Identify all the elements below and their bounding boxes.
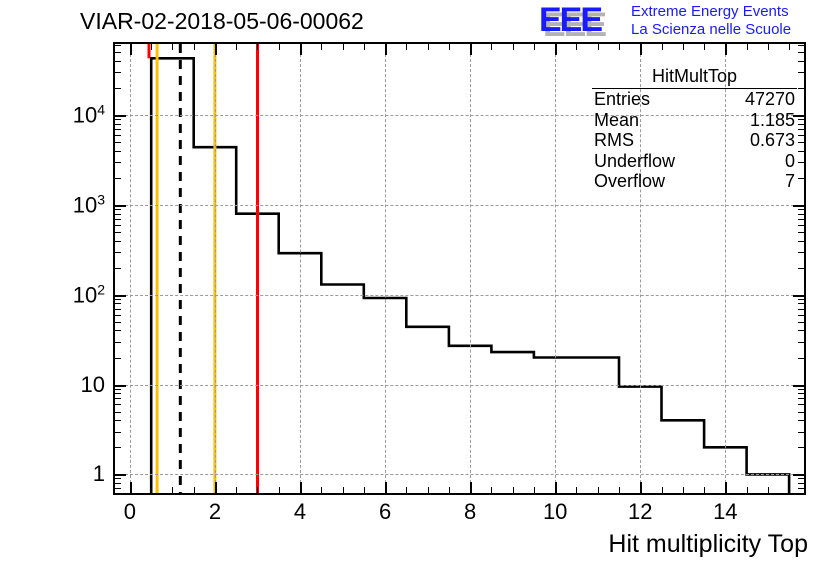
y-tick-right-minor — [798, 61, 804, 62]
y-tick-right-minor — [798, 330, 804, 331]
x-tick-minor — [343, 487, 344, 493]
x-tick-top-minor — [747, 44, 748, 50]
y-tick-minor — [115, 225, 121, 226]
y-tick-right-minor — [798, 358, 804, 359]
stats-row: Mean1.185 — [592, 110, 797, 131]
x-tick-minor — [768, 487, 769, 493]
stats-row: Underflow0 — [592, 151, 797, 172]
y-tick-minor — [115, 393, 121, 394]
y-tick-minor — [115, 315, 121, 316]
y-tick-minor — [115, 330, 121, 331]
y-tick-minor — [115, 178, 121, 179]
x-tick-top-major — [130, 44, 132, 55]
y-tick-major — [115, 205, 126, 207]
x-tick-top-minor — [789, 44, 790, 50]
x-tick-top-minor — [279, 44, 280, 50]
x-tick-minor — [428, 487, 429, 493]
y-tick-right-minor — [798, 241, 804, 242]
y-tick-minor — [115, 119, 121, 120]
x-tick-top-minor — [576, 44, 577, 50]
y-tick-minor — [115, 488, 121, 489]
y-tick-label: 10 — [81, 372, 105, 398]
y-tick-right-minor — [798, 151, 804, 152]
x-tick-minor — [683, 487, 684, 493]
y-tick-right-minor — [798, 135, 804, 136]
x-tick-minor — [513, 487, 514, 493]
y-tick-minor — [115, 358, 121, 359]
y-tick-minor — [115, 142, 121, 143]
x-tick-top-minor — [428, 44, 429, 50]
y-tick-minor — [115, 268, 121, 269]
grid-line-vertical — [470, 44, 471, 493]
y-tick-minor — [115, 129, 121, 130]
y-tick-right-minor — [798, 322, 804, 323]
plot-canvas: VIAR-02-2018-05-06-00062 EEE EEE Extreme… — [0, 0, 836, 572]
y-tick-minor — [115, 232, 121, 233]
y-tick-major — [115, 295, 126, 297]
x-tick-top-major — [215, 44, 217, 55]
stats-row: Overflow7 — [592, 171, 797, 192]
y-tick-major — [115, 385, 126, 387]
y-tick-right-minor — [798, 214, 804, 215]
x-tick-minor — [619, 487, 620, 493]
x-tick-minor — [172, 487, 173, 493]
y-tick-minor — [115, 61, 121, 62]
y-tick-right-minor — [798, 72, 804, 73]
stats-row: RMS0.673 — [592, 130, 797, 151]
y-tick-right-minor — [798, 52, 804, 53]
x-tick-minor — [364, 487, 365, 493]
x-tick-label: 8 — [464, 499, 476, 525]
y-tick-minor — [115, 432, 121, 433]
y-tick-right-minor — [798, 483, 804, 484]
y-tick-major — [115, 115, 126, 117]
x-tick-major — [640, 482, 642, 493]
x-axis-title: Hit multiplicity Top — [608, 530, 808, 559]
x-tick-minor — [491, 487, 492, 493]
y-tick-right-minor — [798, 420, 804, 421]
page-title: VIAR-02-2018-05-06-00062 — [80, 8, 364, 35]
eee-logo: EEE EEE Extreme Energy Events La Scienza… — [539, 2, 834, 40]
x-tick-top-minor — [236, 44, 237, 50]
x-tick-top-major — [555, 44, 557, 55]
y-tick-minor — [115, 478, 121, 479]
y-tick-minor — [115, 303, 121, 304]
x-tick-top-major — [640, 44, 642, 55]
y-tick-right-minor — [798, 178, 804, 179]
x-tick-major — [300, 482, 302, 493]
x-tick-minor — [704, 487, 705, 493]
x-tick-top-minor — [662, 44, 663, 50]
y-tick-minor — [115, 420, 121, 421]
x-tick-minor — [534, 487, 535, 493]
x-tick-minor — [662, 487, 663, 493]
y-tick-right-minor — [798, 393, 804, 394]
x-tick-major — [555, 482, 557, 493]
x-tick-label: 10 — [543, 499, 567, 525]
x-tick-top-minor — [683, 44, 684, 50]
x-tick-minor — [321, 487, 322, 493]
y-tick-minor — [115, 309, 121, 310]
x-tick-minor — [279, 487, 280, 493]
stats-row-value: 0 — [785, 151, 795, 172]
y-tick-minor — [115, 483, 121, 484]
y-tick-label: 102 — [73, 281, 105, 308]
y-tick-right-major — [793, 474, 804, 476]
y-tick-right-minor — [798, 232, 804, 233]
eee-logo-letters: EEE — [539, 3, 601, 37]
x-tick-top-minor — [343, 44, 344, 50]
grid-line-horizontal — [115, 385, 804, 386]
y-tick-minor — [115, 252, 121, 253]
x-tick-top-major — [725, 44, 727, 55]
x-tick-top-minor — [172, 44, 173, 50]
grid-line-vertical — [300, 44, 301, 493]
stats-rows: Entries47270Mean1.185RMS0.673Underflow0O… — [592, 89, 797, 192]
x-tick-top-major — [385, 44, 387, 55]
x-tick-top-minor — [321, 44, 322, 50]
stats-box: HitMultTop Entries47270Mean1.185RMS0.673… — [592, 66, 797, 192]
stats-row: Entries47270 — [592, 89, 797, 110]
y-tick-right-minor — [798, 124, 804, 125]
x-tick-minor — [789, 487, 790, 493]
y-tick-right-minor — [798, 162, 804, 163]
x-tick-major — [385, 482, 387, 493]
x-tick-top-major — [470, 44, 472, 55]
y-tick-minor — [115, 162, 121, 163]
x-tick-minor — [151, 487, 152, 493]
y-tick-right-minor — [798, 142, 804, 143]
x-tick-minor — [747, 487, 748, 493]
y-tick-right-minor — [798, 129, 804, 130]
y-tick-right-minor — [798, 342, 804, 343]
x-tick-minor — [257, 487, 258, 493]
y-tick-right-minor — [798, 303, 804, 304]
y-tick-minor — [115, 322, 121, 323]
y-tick-right-minor — [798, 488, 804, 489]
y-tick-right-major — [793, 385, 804, 387]
x-tick-top-minor — [491, 44, 492, 50]
y-tick-minor — [115, 45, 121, 46]
x-tick-top-minor — [704, 44, 705, 50]
y-tick-right-minor — [798, 398, 804, 399]
x-tick-minor — [236, 487, 237, 493]
x-tick-minor — [194, 487, 195, 493]
x-tick-major — [470, 482, 472, 493]
grid-line-vertical — [215, 44, 216, 493]
y-tick-label: 103 — [73, 191, 105, 218]
y-tick-minor — [115, 342, 121, 343]
y-tick-right-minor — [798, 45, 804, 46]
stats-title: HitMultTop — [592, 66, 797, 89]
x-tick-top-minor — [151, 44, 152, 50]
y-tick-minor — [115, 88, 121, 89]
y-tick-minor — [115, 52, 121, 53]
stats-row-key: Mean — [594, 110, 639, 131]
y-tick-right-minor — [798, 309, 804, 310]
eee-logo-line1: Extreme Energy Events — [631, 3, 789, 20]
y-tick-right-minor — [798, 209, 804, 210]
x-tick-label: 0 — [124, 499, 136, 525]
y-tick-right-minor — [798, 225, 804, 226]
y-tick-right-minor — [798, 389, 804, 390]
y-tick-minor — [115, 241, 121, 242]
y-tick-minor — [115, 72, 121, 73]
grid-line-horizontal — [115, 474, 804, 475]
stats-row-value: 0.673 — [750, 130, 795, 151]
y-tick-minor — [115, 151, 121, 152]
y-tick-minor — [115, 389, 121, 390]
y-tick-right-minor — [798, 432, 804, 433]
stats-row-value: 7 — [785, 171, 795, 192]
y-tick-right-major — [793, 205, 804, 207]
x-tick-top-minor — [194, 44, 195, 50]
y-tick-right-minor — [798, 412, 804, 413]
y-tick-right-minor — [798, 219, 804, 220]
y-tick-minor — [115, 124, 121, 125]
grid-line-horizontal — [115, 205, 804, 206]
x-tick-major — [215, 482, 217, 493]
stats-row-key: Overflow — [594, 171, 665, 192]
y-tick-right-minor — [798, 315, 804, 316]
x-tick-minor — [406, 487, 407, 493]
y-tick-right-minor — [798, 404, 804, 405]
stats-row-key: RMS — [594, 130, 634, 151]
x-tick-minor — [576, 487, 577, 493]
y-tick-minor — [115, 214, 121, 215]
y-tick-right-minor — [798, 268, 804, 269]
x-tick-top-minor — [257, 44, 258, 50]
x-tick-top-minor — [406, 44, 407, 50]
x-tick-top-minor — [534, 44, 535, 50]
stats-row-key: Underflow — [594, 151, 675, 172]
y-tick-right-minor — [798, 447, 804, 448]
grid-line-vertical — [555, 44, 556, 493]
stats-row-value: 47270 — [745, 89, 795, 110]
y-tick-minor — [115, 135, 121, 136]
y-tick-right-minor — [798, 299, 804, 300]
x-tick-top-minor — [768, 44, 769, 50]
y-tick-right-minor — [798, 252, 804, 253]
y-tick-right-minor — [798, 119, 804, 120]
y-tick-minor — [115, 447, 121, 448]
y-tick-right-major — [793, 295, 804, 297]
x-tick-major — [130, 482, 132, 493]
y-tick-minor — [115, 404, 121, 405]
y-tick-label: 104 — [73, 101, 105, 128]
y-tick-major — [115, 474, 126, 476]
y-tick-minor — [115, 299, 121, 300]
x-tick-top-minor — [513, 44, 514, 50]
grid-line-horizontal — [115, 295, 804, 296]
y-tick-minor — [115, 412, 121, 413]
y-tick-minor — [115, 219, 121, 220]
x-tick-label: 4 — [294, 499, 306, 525]
x-tick-minor — [449, 487, 450, 493]
x-tick-top-minor — [364, 44, 365, 50]
x-tick-label: 6 — [379, 499, 391, 525]
x-tick-top-major — [300, 44, 302, 55]
x-tick-label: 12 — [628, 499, 652, 525]
y-tick-minor — [115, 398, 121, 399]
stats-row-key: Entries — [594, 89, 650, 110]
y-tick-minor — [115, 209, 121, 210]
x-tick-label: 2 — [209, 499, 221, 525]
x-tick-minor — [598, 487, 599, 493]
x-tick-major — [725, 482, 727, 493]
x-tick-label: 14 — [713, 499, 737, 525]
grid-line-vertical — [130, 44, 131, 493]
stats-row-value: 1.185 — [750, 110, 795, 131]
x-tick-top-minor — [598, 44, 599, 50]
y-tick-right-minor — [798, 478, 804, 479]
x-tick-top-minor — [449, 44, 450, 50]
eee-logo-line2: La Scienza nelle Scuole — [631, 21, 791, 38]
y-tick-label: 1 — [93, 461, 105, 487]
y-tick-right-minor — [798, 88, 804, 89]
grid-line-vertical — [385, 44, 386, 493]
x-tick-top-minor — [619, 44, 620, 50]
